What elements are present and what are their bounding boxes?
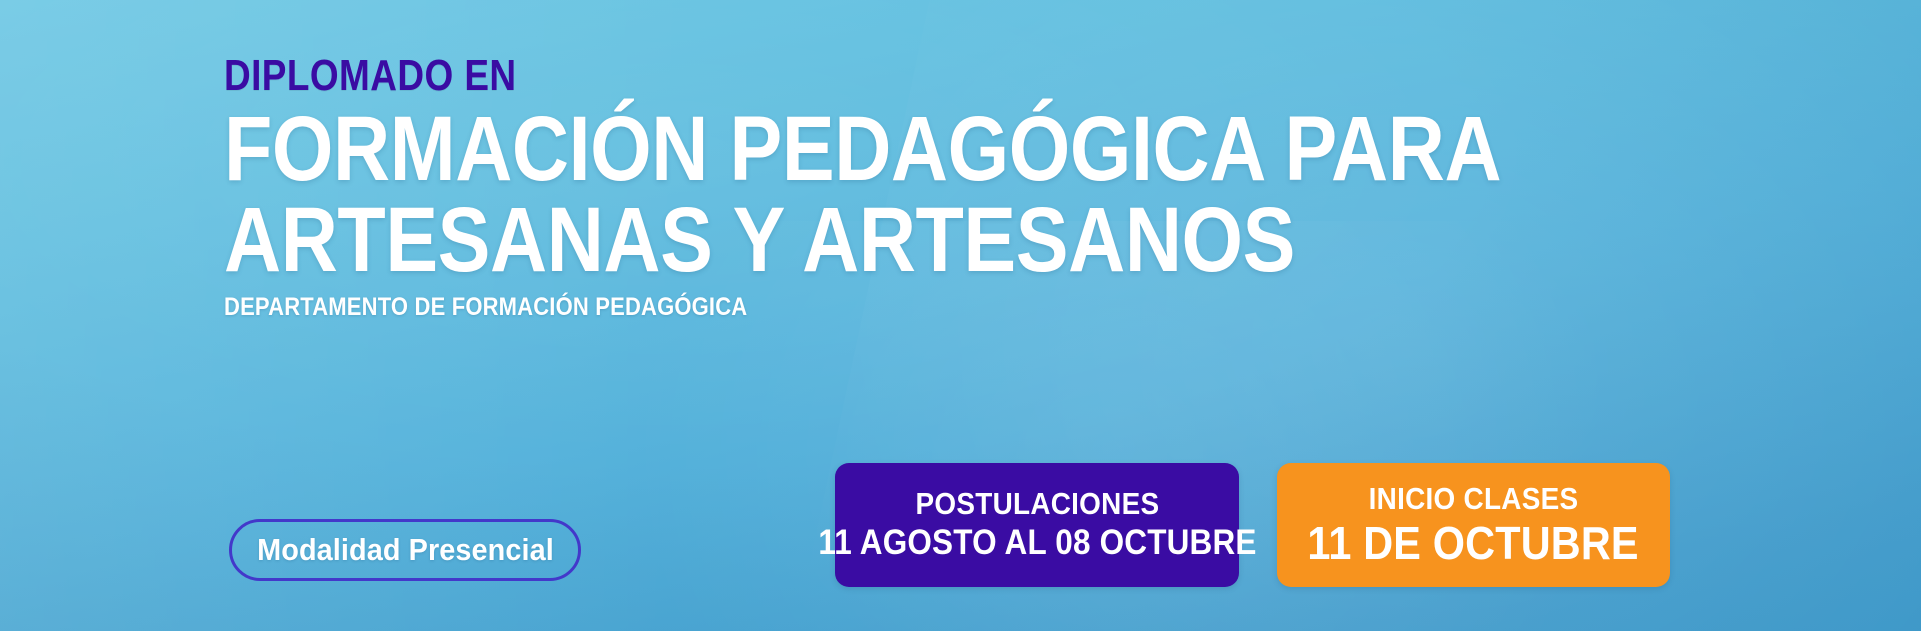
promotional-banner: DIPLOMADO EN FORMACIÓN PEDAGÓGICA PARA A… (0, 0, 1921, 631)
modality-label: Modalidad Presencial (257, 532, 554, 568)
badge-postulaciones-dates: 11 AGOSTO AL 08 OCTUBRE (818, 525, 1256, 562)
badge-inicio-clases-date: 11 DE OCTUBRE (1308, 519, 1639, 567)
department-label: DEPARTAMENTO DE FORMACIÓN PEDAGÓGICA (224, 295, 1531, 320)
badge-inicio-clases[interactable]: INICIO CLASES 11 DE OCTUBRE (1277, 463, 1670, 587)
page-title-line-1: FORMACIÓN PEDAGÓGICA PARA (224, 106, 1501, 193)
eyebrow-label: DIPLOMADO EN (224, 54, 1471, 98)
badge-postulaciones[interactable]: POSTULACIONES 11 AGOSTO AL 08 OCTUBRE (835, 463, 1239, 587)
page-title-line-2: ARTESANAS Y ARTESANOS (224, 197, 1501, 284)
badge-inicio-clases-title: INICIO CLASES (1369, 483, 1579, 516)
headline-block: DIPLOMADO EN FORMACIÓN PEDAGÓGICA PARA A… (224, 54, 1709, 320)
badge-postulaciones-title: POSTULACIONES (915, 488, 1159, 521)
modality-pill[interactable]: Modalidad Presencial (229, 519, 581, 581)
